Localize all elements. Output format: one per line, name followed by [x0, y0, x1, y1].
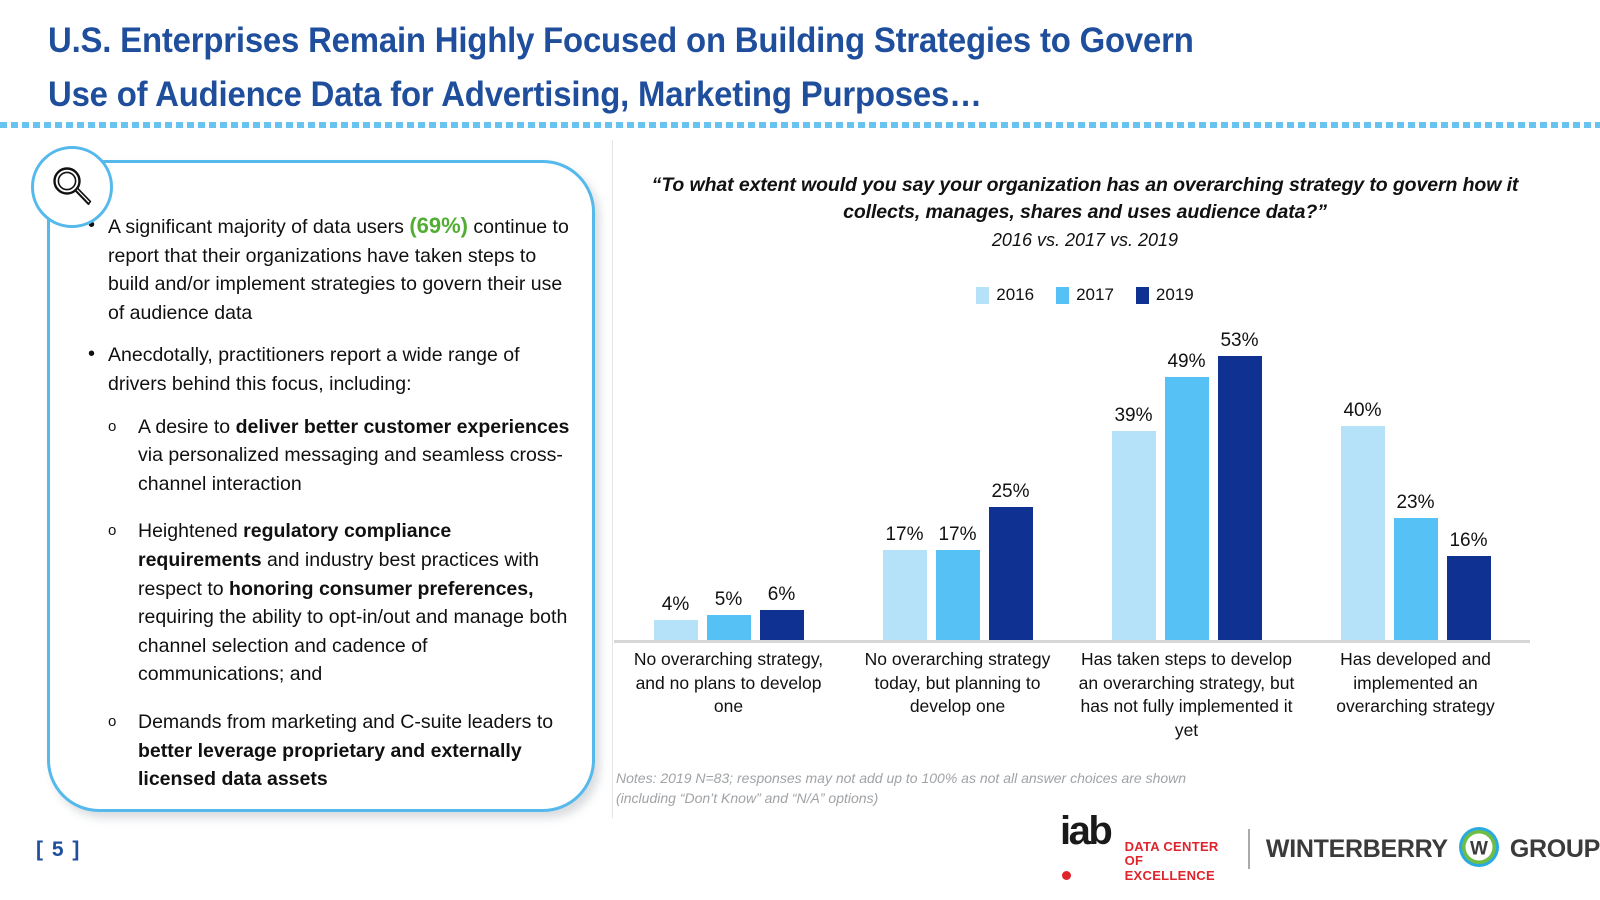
bullet-text-segment: deliver better customer experiences: [236, 416, 570, 438]
legend-item-2017[interactable]: 2017: [1056, 285, 1114, 305]
bar-2016[interactable]: 4%: [654, 318, 698, 642]
bar-rect[interactable]: [1218, 356, 1262, 642]
bar-rect[interactable]: [936, 550, 980, 642]
iab-sublabel-line-2: OF EXCELLENCE: [1125, 854, 1233, 883]
bar-rect[interactable]: [707, 615, 751, 642]
commentary-bullet-list: •A significant majority of data users (6…: [82, 212, 572, 813]
legend-swatch-icon: [1056, 287, 1069, 304]
iab-sublabel-line-1: DATA CENTER: [1125, 840, 1233, 855]
bullet-marker-icon: •: [88, 340, 95, 369]
bullet-text-segment: via personalized messaging and seamless …: [138, 444, 563, 495]
bar-value-label: 17%: [938, 524, 976, 546]
bullet-marker-icon: o: [108, 413, 116, 442]
iab-sublabel: DATA CENTER OF EXCELLENCE: [1125, 840, 1233, 886]
winterberry-logo: WINTERBERRY W GROUP: [1266, 825, 1600, 874]
iab-wordmark-text: iab: [1060, 809, 1110, 853]
bar-value-label: 17%: [885, 524, 923, 546]
legend-label: 2017: [1076, 285, 1114, 305]
bar-2017[interactable]: 5%: [707, 318, 751, 642]
sub-bullet-item: oDemands from marketing and C-suite lead…: [82, 708, 572, 794]
magnifier-icon: [31, 146, 113, 228]
bar-rect[interactable]: [1447, 556, 1491, 642]
bar-group: 17%17%25%: [843, 318, 1072, 642]
bar-rect[interactable]: [989, 507, 1033, 642]
bar-value-label: 16%: [1449, 530, 1487, 552]
bar-rect[interactable]: [1394, 518, 1438, 642]
bar-rect[interactable]: [1165, 377, 1209, 642]
bullet-text: A significant majority of data users (69…: [108, 216, 569, 324]
bar-value-label: 39%: [1114, 405, 1152, 427]
legend-label: 2016: [996, 285, 1034, 305]
chart-plot-area: 4%5%6%17%17%25%39%49%53%40%23%16%: [614, 318, 1530, 642]
bar-2019[interactable]: 25%: [989, 318, 1033, 642]
bar-rect[interactable]: [1341, 426, 1385, 642]
bullet-text-segment: (69%): [409, 213, 468, 238]
sub-bullet-item: oA desire to deliver better customer exp…: [82, 413, 572, 499]
legend-swatch-icon: [1136, 287, 1149, 304]
winterberry-wordmark: WINTERBERRY: [1266, 835, 1448, 864]
sub-bullet-list: oA desire to deliver better customer exp…: [82, 413, 572, 794]
bar-2019[interactable]: 6%: [760, 318, 804, 642]
page-title: U.S. Enterprises Remain Highly Focused o…: [48, 14, 1458, 122]
chart-subtitle: 2016 vs. 2017 vs. 2019: [640, 230, 1530, 251]
legend-swatch-icon: [976, 287, 989, 304]
legend-label: 2019: [1156, 285, 1194, 305]
bullet-text-segment: Anecdotally, practitioners report a wide…: [108, 344, 520, 395]
page-title-line-1: U.S. Enterprises Remain Highly Focused o…: [48, 14, 1458, 68]
bar-2016[interactable]: 40%: [1341, 318, 1385, 642]
bullet-text-segment: Demands from marketing and C-suite leade…: [138, 711, 553, 733]
chart-notes: Notes: 2019 N=83; responses may not add …: [616, 768, 1316, 808]
bullet-text-segment: requiring the ability to opt-in/out and …: [138, 606, 567, 685]
chart-question-title: “To what extent would you say your organ…: [640, 172, 1530, 226]
category-label: No overarching strategy today, but plann…: [843, 648, 1072, 742]
title-divider-rule: [0, 122, 1600, 128]
bullet-text-segment: honoring consumer preferences,: [229, 578, 534, 600]
bar-value-label: 53%: [1220, 330, 1258, 352]
chart-legend: 201620172019: [640, 285, 1530, 305]
bar-value-label: 5%: [715, 589, 742, 611]
footer-logos: iab DATA CENTER OF EXCELLENCE WINTERBERR…: [1060, 820, 1600, 878]
bullet-text-segment: A desire to: [138, 416, 236, 438]
bar-value-label: 25%: [991, 481, 1029, 503]
iab-wordmark: iab: [1060, 813, 1119, 885]
bar-value-label: 49%: [1167, 351, 1205, 373]
winterberry-w-mark-icon: W: [1457, 825, 1501, 874]
iab-logo: iab DATA CENTER OF EXCELLENCE: [1060, 813, 1232, 885]
bar-2017[interactable]: 49%: [1165, 318, 1209, 642]
sub-bullet-item: oHeightened regulatory compliance requir…: [82, 517, 572, 689]
bar-2016[interactable]: 17%: [883, 318, 927, 642]
category-label: Has taken steps to develop an overarchin…: [1072, 648, 1301, 742]
page-number: [ 5 ]: [36, 838, 81, 862]
logo-divider: [1248, 829, 1249, 869]
chart-axis-baseline: [614, 640, 1530, 643]
page-title-line-2: Use of Audience Data for Advertising, Ma…: [48, 68, 1458, 122]
bar-value-label: 4%: [662, 594, 689, 616]
chart-note-line: Notes: 2019 N=83; responses may not add …: [616, 768, 1316, 788]
bar-rect[interactable]: [654, 620, 698, 642]
bullet-marker-icon: o: [108, 517, 116, 546]
column-divider: [612, 140, 613, 818]
bullet-marker-icon: o: [108, 708, 116, 737]
iab-dot-icon: [1062, 871, 1071, 880]
svg-text:W: W: [1470, 838, 1488, 859]
bar-group: 4%5%6%: [614, 318, 843, 642]
group-wordmark: GROUP: [1510, 835, 1600, 864]
bar-2019[interactable]: 53%: [1218, 318, 1262, 642]
bar-2016[interactable]: 39%: [1112, 318, 1156, 642]
bar-group: 40%23%16%: [1301, 318, 1530, 642]
bullet-text-segment: A significant majority of data users: [108, 216, 409, 238]
category-label: No overarching strategy, and no plans to…: [614, 648, 843, 742]
bar-value-label: 23%: [1396, 492, 1434, 514]
bar-2017[interactable]: 23%: [1394, 318, 1438, 642]
category-label: Has developed and implemented an overarc…: [1301, 648, 1530, 742]
bar-rect[interactable]: [1112, 431, 1156, 642]
bar-group: 39%49%53%: [1072, 318, 1301, 642]
bullet-item: •Anecdotally, practitioners report a wid…: [82, 341, 572, 398]
bullet-text-segment: Heightened: [138, 520, 243, 542]
bullet-text: Heightened regulatory compliance require…: [138, 520, 567, 685]
bar-rect[interactable]: [883, 550, 927, 642]
bar-value-label: 40%: [1343, 400, 1381, 422]
legend-item-2019[interactable]: 2019: [1136, 285, 1194, 305]
chart-note-line: (including “Don’t Know” and “N/A” option…: [616, 788, 1316, 808]
bullet-text: Anecdotally, practitioners report a wide…: [108, 344, 520, 395]
bullet-item: •A significant majority of data users (6…: [82, 212, 572, 327]
legend-item-2016[interactable]: 2016: [976, 285, 1034, 305]
bar-2017[interactable]: 17%: [936, 318, 980, 642]
bullet-text-segment: better leverage proprietary and external…: [138, 740, 522, 791]
bar-rect[interactable]: [760, 610, 804, 642]
bullet-text: A desire to deliver better customer expe…: [138, 416, 569, 495]
chart-category-labels: No overarching strategy, and no plans to…: [614, 648, 1530, 742]
bullet-text: Demands from marketing and C-suite leade…: [138, 711, 553, 790]
bar-value-label: 6%: [768, 584, 795, 606]
bar-2019[interactable]: 16%: [1447, 318, 1491, 642]
